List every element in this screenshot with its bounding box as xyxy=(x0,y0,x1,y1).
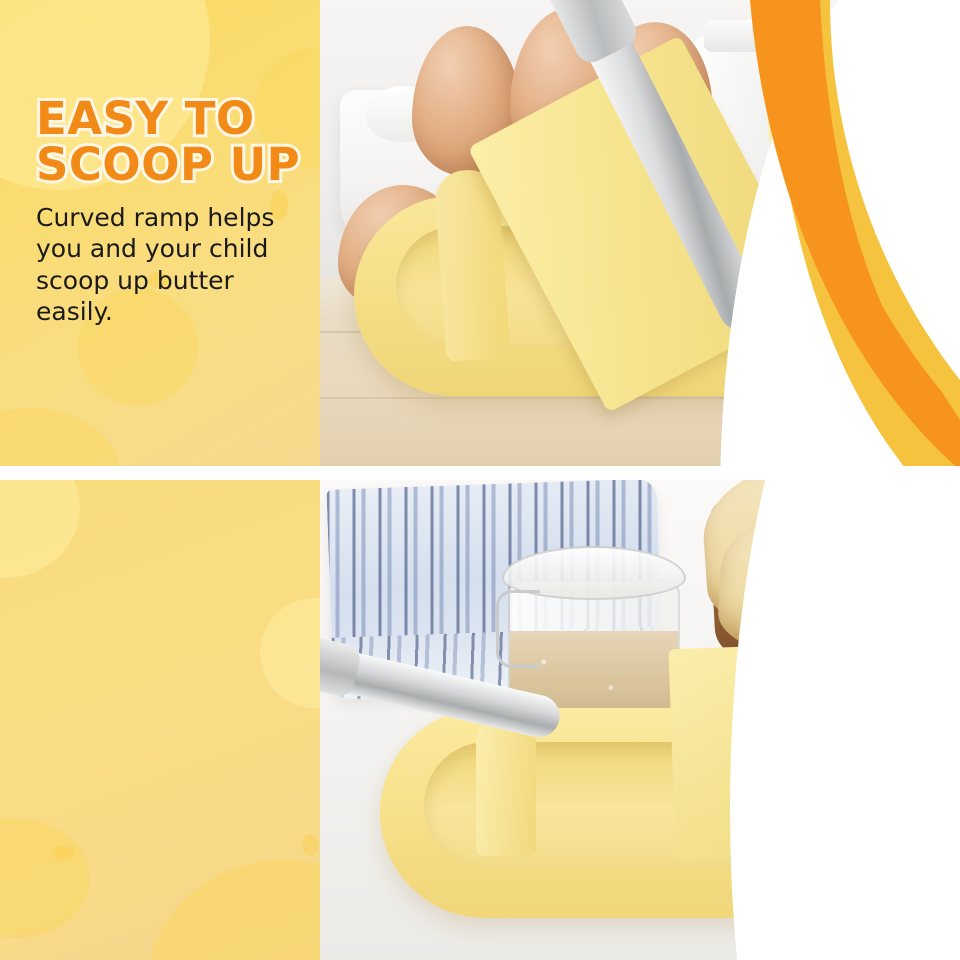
curved-ramp-scraper xyxy=(476,716,536,856)
bubble-decor xyxy=(0,478,80,578)
right-white-curve-mask xyxy=(730,478,960,960)
panel-bottom-yellow-background xyxy=(0,478,320,960)
panel-divider xyxy=(0,466,960,480)
body-line: you and your child xyxy=(36,233,326,265)
body-line: scoop up butter xyxy=(36,265,326,297)
headline-line: EASY TO xyxy=(36,96,326,142)
infographic-canvas: EASY TO SCOOP UP Curved ramp helps you a… xyxy=(0,0,960,960)
headline-line: SCOOP UP xyxy=(36,142,326,188)
body-copy-top: Curved ramp helps you and your child sco… xyxy=(36,202,326,328)
bubble-decor xyxy=(302,834,318,856)
panel-bottom: EASY SCOOP BUTTER KNIFE The top of the r… xyxy=(0,478,960,960)
bubble-decor xyxy=(0,818,90,938)
jar-clamp-wire xyxy=(496,590,540,668)
bubble-decor xyxy=(52,846,74,860)
jar-lid xyxy=(704,20,800,52)
body-line: Curved ramp helps xyxy=(36,202,326,234)
headline-top: EASY TO SCOOP UP xyxy=(36,96,326,188)
photo-bottom-butter-knife-scraper xyxy=(320,478,960,960)
panel-top: EASY TO SCOOP UP Curved ramp helps you a… xyxy=(0,0,960,470)
body-line: easily. xyxy=(36,296,326,328)
text-block-top: EASY TO SCOOP UP Curved ramp helps you a… xyxy=(36,96,326,328)
photo-top-butter-dish-eggs xyxy=(320,0,960,470)
bubble-decor xyxy=(0,408,120,470)
